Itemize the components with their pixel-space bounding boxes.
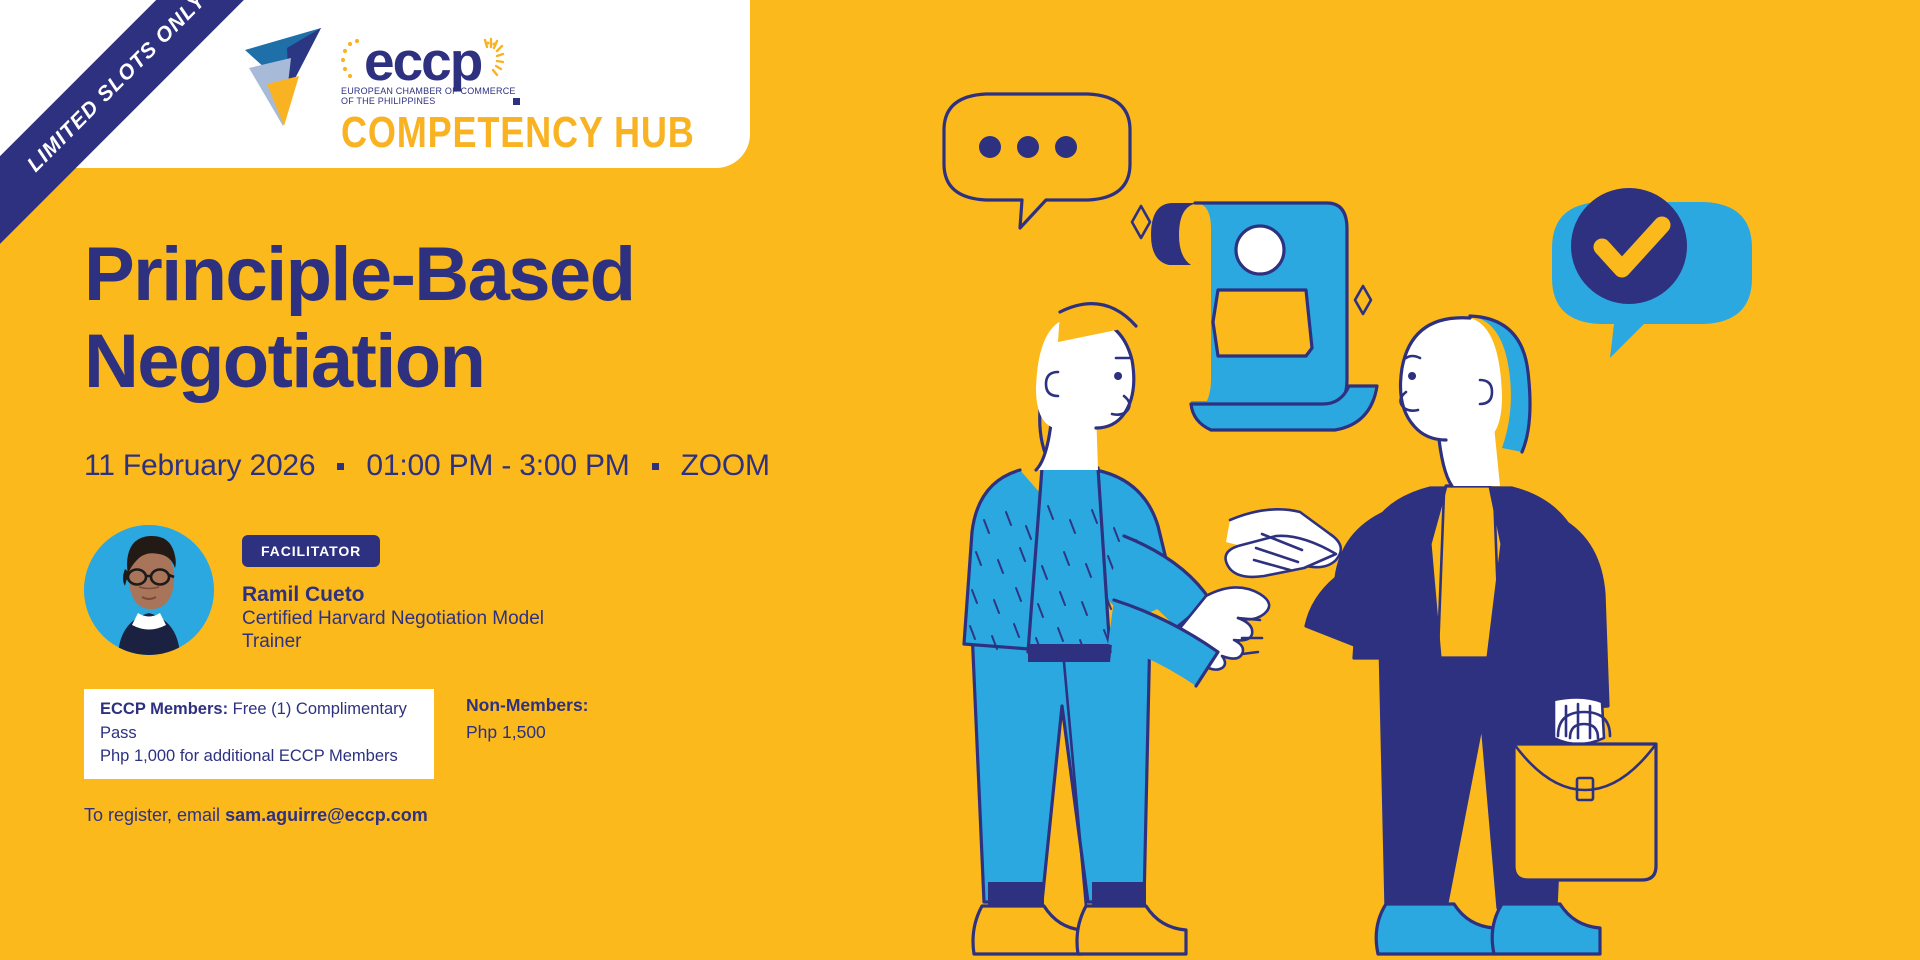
pricing-section: ECCP Members: Free (1) Complimentary Pas… bbox=[84, 689, 944, 778]
speech-bubble-ellipsis-icon bbox=[944, 94, 1130, 228]
main-content: Principle-Based Negotiation 11 February … bbox=[84, 232, 944, 826]
event-time: 01:00 PM - 3:00 PM bbox=[366, 449, 629, 483]
eccp-wordmark: eccp bbox=[341, 36, 772, 84]
negotiation-illustration: .nv{fill:#2E3180}.bl{fill:#2BA8E0}.wh{fi… bbox=[910, 0, 1920, 960]
sun-rays-icon bbox=[477, 36, 505, 84]
eccp-full-name: EUROPEAN CHAMBER OF COMMERCE OF THE PHIL… bbox=[341, 86, 772, 106]
facilitator-section: FACILITATOR Ramil Cueto Certified Harvar… bbox=[84, 525, 944, 655]
eccp-logo: eccp EUROPEAN CHAMBER OF COMMERCE OF THE… bbox=[243, 22, 772, 155]
registration-prefix: To register, email bbox=[84, 805, 225, 825]
members-label: ECCP Members: bbox=[100, 700, 228, 718]
registration-line: To register, email sam.aguirre@eccp.com bbox=[84, 805, 944, 826]
eccp-full-name-line2: OF THE PHILIPPINES bbox=[341, 96, 435, 106]
facilitator-portrait bbox=[84, 525, 214, 655]
facilitator-info: FACILITATOR Ramil Cueto Certified Harvar… bbox=[242, 525, 544, 653]
competency-hub-wordmark: COMPETENCY HUB bbox=[341, 111, 695, 155]
facilitator-role-line1: Certified Harvard Negotiation Model bbox=[242, 608, 544, 629]
event-date: 11 February 2026 bbox=[84, 449, 315, 483]
speech-bubble-checkmark-icon bbox=[1552, 188, 1752, 358]
status-badge: FACILITATOR bbox=[242, 535, 380, 567]
registration-email[interactable]: sam.aguirre@eccp.com bbox=[225, 805, 428, 825]
page-title: Principle-Based Negotiation bbox=[84, 232, 944, 405]
eccp-full-name-line1: EUROPEAN CHAMBER OF COMMERCE bbox=[341, 86, 516, 96]
event-platform: ZOOM bbox=[681, 449, 770, 483]
nonmembers-price-box: Non-Members: Php 1,500 bbox=[466, 689, 589, 743]
facilitator-role-line2: Trainer bbox=[242, 631, 301, 652]
event-meta: 11 February 2026 01:00 PM - 3:00 PM ZOOM bbox=[84, 449, 944, 483]
eccp-text: eccp bbox=[364, 39, 481, 84]
scroll-document-icon bbox=[1151, 203, 1377, 430]
facilitator-role: Certified Harvard Negotiation Model Trai… bbox=[242, 607, 544, 653]
nonmembers-label: Non-Members: bbox=[466, 695, 589, 716]
event-title-line1: Principle-Based bbox=[84, 232, 944, 319]
event-banner: .nv{fill:#2E3180}.bl{fill:#2BA8E0}.wh{fi… bbox=[0, 0, 1920, 960]
handshake bbox=[1226, 509, 1341, 577]
nonmembers-value: Php 1,500 bbox=[466, 722, 589, 743]
logo-square-mark bbox=[513, 98, 520, 105]
members-price-line: ECCP Members: Free (1) Complimentary Pas… bbox=[100, 698, 418, 745]
members-note: Php 1,000 for additional ECCP Members bbox=[100, 745, 418, 768]
members-price-box: ECCP Members: Free (1) Complimentary Pas… bbox=[84, 689, 434, 778]
facilitator-avatar bbox=[84, 525, 214, 655]
facilitator-name: Ramil Cueto bbox=[242, 583, 544, 607]
meta-separator-dot-2 bbox=[652, 463, 659, 470]
event-title-line2: Negotiation bbox=[84, 319, 944, 406]
meta-separator-dot-1 bbox=[337, 463, 344, 470]
eccp-arrow-logo-icon bbox=[243, 22, 335, 142]
